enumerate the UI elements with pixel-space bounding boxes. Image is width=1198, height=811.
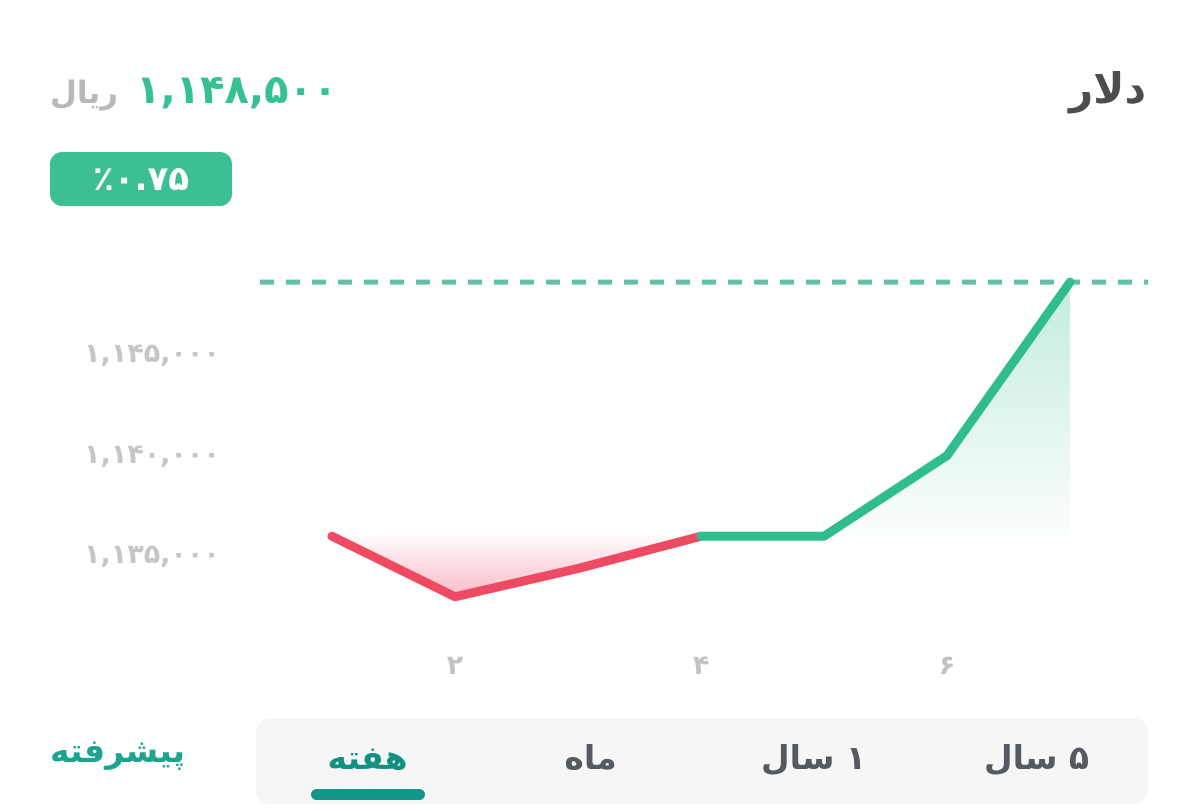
tab-week[interactable]: هفته: [256, 718, 479, 804]
current-price-value: ۱,۱۴۸,۵۰۰: [136, 70, 337, 110]
price-chart[interactable]: ۱,۱۴۵,۰۰۰ ۱,۱۴۰,۰۰۰ ۱,۱۳۵,۰۰۰ ۲ ۴ ۶: [0, 225, 1198, 695]
tab-month-label: ماه: [564, 738, 616, 777]
x-axis-label: ۴: [693, 652, 709, 679]
current-price-row: ۱,۱۴۸,۵۰۰ ریال: [50, 70, 337, 110]
y-axis-label: ۱,۱۳۵,۰۰۰: [84, 541, 220, 568]
y-axis-label: ۱,۱۴۰,۰۰۰: [84, 441, 220, 468]
price-change-badge: ٪۰.۷۵: [50, 152, 232, 206]
x-axis-label: ۲: [447, 652, 463, 679]
price-header: دلار ۱,۱۴۸,۵۰۰ ریال ٪۰.۷۵: [0, 0, 1198, 225]
tab-week-label: هفته: [327, 738, 407, 777]
time-range-tabs[interactable]: هفته ماه ۱ سال ۵ سال: [256, 718, 1148, 804]
tab-one-year-label: ۱ سال: [761, 738, 866, 777]
tab-five-years-label: ۵ سال: [984, 738, 1089, 777]
chart-footer: پیشرفته هفته ماه ۱ سال ۵ سال: [0, 700, 1198, 811]
tab-active-indicator: [311, 789, 425, 800]
tab-five-years[interactable]: ۵ سال: [925, 718, 1148, 804]
tab-month[interactable]: ماه: [479, 718, 702, 804]
currency-label: ریال: [50, 78, 118, 109]
y-axis-label: ۱,۱۴۵,۰۰۰: [84, 340, 220, 367]
price-change-value: ٪۰.۷۵: [93, 162, 189, 196]
x-axis-label: ۶: [939, 652, 955, 679]
asset-title: دلار: [1069, 68, 1146, 110]
price-detail-screen: دلار ۱,۱۴۸,۵۰۰ ریال ٪۰.۷۵: [0, 0, 1198, 811]
advanced-chart-link[interactable]: پیشرفته: [50, 734, 185, 767]
tab-one-year[interactable]: ۱ سال: [702, 718, 925, 804]
